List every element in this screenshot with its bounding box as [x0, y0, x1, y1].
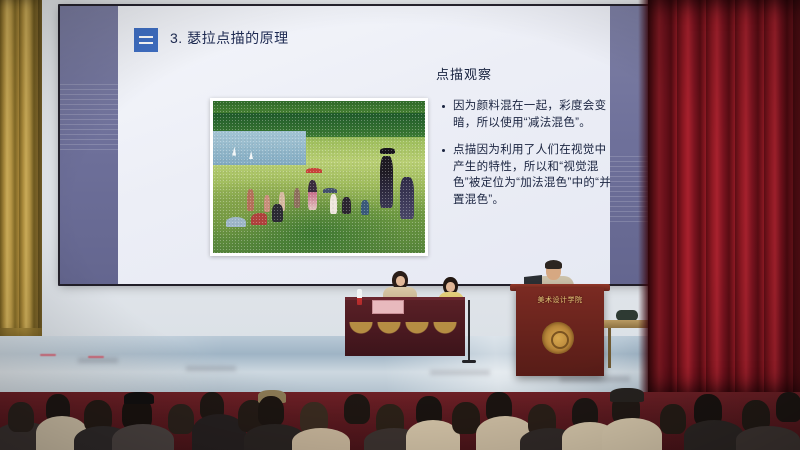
- audience-shoulders: [602, 418, 662, 450]
- school-emblem-icon: [542, 322, 574, 354]
- slide-band-left: [60, 6, 118, 284]
- projection-screen: 3. 瑟拉点描的原理 点描观察: [60, 6, 668, 284]
- audience-cap: [124, 392, 154, 404]
- audience-head: [168, 404, 194, 434]
- audience-shoulders: [684, 420, 744, 450]
- laser-reflection: [88, 356, 104, 358]
- pointillism-painting-image: [213, 101, 425, 253]
- panel-table-gold-swag: [345, 322, 465, 344]
- audience-shoulders: [292, 428, 350, 450]
- audience-head: [344, 394, 370, 424]
- slide-band-stripes-left: [60, 84, 118, 154]
- slide-bullet-list: 因为颜料混在一起，彩度会变暗，所以使用“减法混色”。 点描因为利用了人们在视觉中…: [442, 98, 618, 219]
- side-table-leg: [608, 328, 611, 368]
- floor-reflection-spot: [186, 366, 236, 371]
- floor-reflection-spot: [78, 358, 118, 363]
- bullet-item: 因为颜料混在一起，彩度会变暗，所以使用“减法混色”。: [442, 98, 618, 131]
- seated-audience: [0, 386, 800, 450]
- seated-panelist-face: [396, 276, 405, 286]
- speaker-hair: [545, 260, 562, 269]
- audience-head: [660, 404, 686, 434]
- microphone-stand-base: [462, 360, 476, 363]
- pointillism-painting-frame: [210, 98, 428, 256]
- podium-sign-text: 美术设计学院: [519, 293, 601, 306]
- floor-reflection-spot: [560, 376, 630, 382]
- audience-shoulders: [736, 426, 800, 450]
- audience-head: [776, 392, 800, 422]
- slide-title: 3. 瑟拉点描的原理: [170, 28, 289, 48]
- laser-reflection: [40, 354, 56, 356]
- lecture-hall-photo: 3. 瑟拉点描的原理 点描观察: [0, 0, 800, 450]
- name-card: [372, 300, 404, 314]
- gold-curtain-left: [0, 0, 42, 336]
- audience-cap: [610, 388, 644, 402]
- pointillism-dot-texture: [213, 101, 425, 253]
- audience-head: [258, 396, 284, 426]
- floor-reflection-spot: [430, 370, 490, 375]
- water-bottle: [357, 289, 362, 305]
- red-curtain-right: [648, 0, 800, 392]
- audience-shoulders: [112, 424, 174, 450]
- slide-content-area: 3. 瑟拉点描的原理 点描观察: [118, 6, 610, 284]
- slide-subtitle: 点描观察: [436, 64, 492, 83]
- microphone-stand-pole: [468, 300, 470, 362]
- red-curtain-shadow-edge: [638, 0, 648, 392]
- bullet-item: 点描因为利用了人们在视觉中产生的特性，所以和“视觉混色”被定位为“加法混色”中的…: [442, 142, 618, 208]
- standing-assistant-face: [446, 282, 455, 292]
- menu-bars-icon: [134, 28, 158, 52]
- audience-head: [8, 402, 34, 432]
